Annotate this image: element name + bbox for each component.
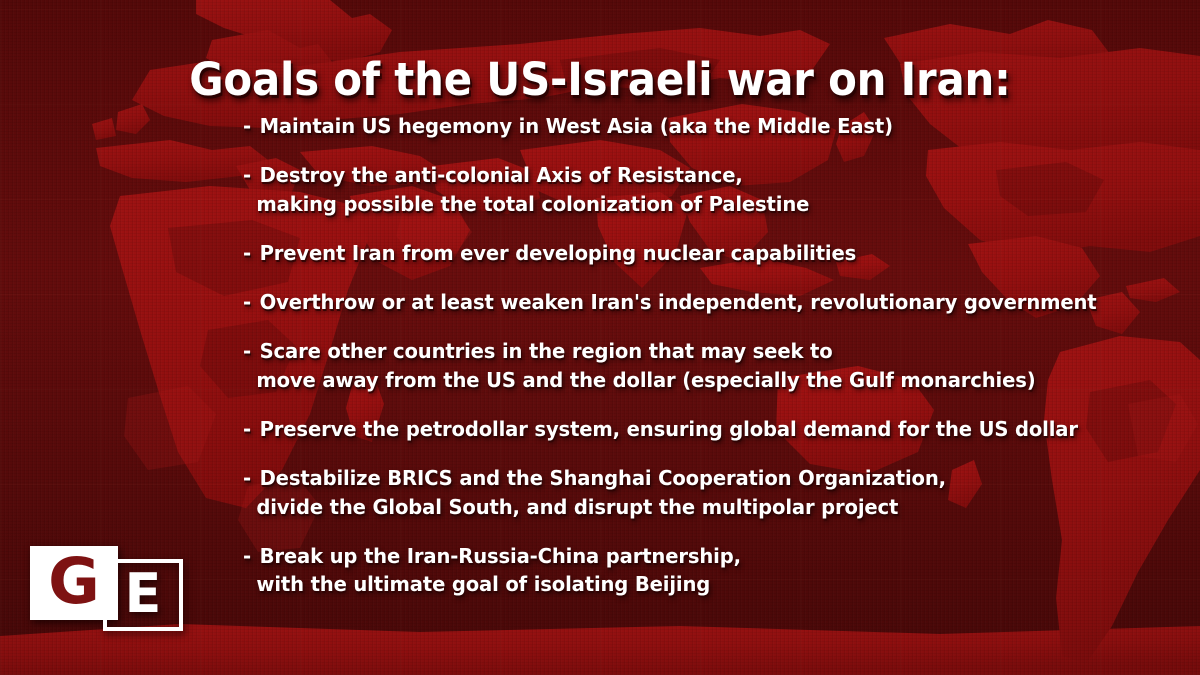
- goal-item: - Destroy the anti-colonial Axis of Resi…: [243, 161, 1131, 218]
- goal-line-continuation: divide the Global South, and disrupt the…: [243, 493, 1131, 521]
- goal-item: - Break up the Iran-Russia-China partner…: [243, 542, 1131, 599]
- goal-text: making possible the total colonization o…: [256, 192, 809, 216]
- goal-item: - Maintain US hegemony in West Asia (aka…: [243, 112, 1131, 140]
- goal-text: Break up the Iran-Russia-China partnersh…: [260, 544, 741, 568]
- goal-line-continuation: move away from the US and the dollar (es…: [243, 366, 1131, 394]
- bullet-dash: -: [243, 112, 251, 140]
- goal-text: divide the Global South, and disrupt the…: [256, 495, 898, 519]
- goal-line-primary: - Scare other countries in the region th…: [243, 337, 1131, 365]
- grayzone-logo: G E: [30, 546, 186, 632]
- bullet-dash: -: [243, 288, 251, 316]
- goal-item: - Scare other countries in the region th…: [243, 337, 1131, 394]
- goal-line-primary: - Overthrow or at least weaken Iran's in…: [243, 288, 1131, 316]
- goal-line-primary: - Break up the Iran-Russia-China partner…: [243, 542, 1131, 570]
- bullet-dash: -: [243, 415, 251, 443]
- goal-text: Destabilize BRICS and the Shanghai Coope…: [260, 466, 946, 490]
- goal-item: - Preserve the petrodollar system, ensur…: [243, 415, 1131, 443]
- goal-text: Scare other countries in the region that…: [260, 339, 833, 363]
- goal-item: - Prevent Iran from ever developing nucl…: [243, 239, 1131, 267]
- bullet-dash: -: [243, 542, 251, 570]
- goal-text: with the ultimate goal of isolating Beij…: [256, 572, 710, 596]
- goals-list: - Maintain US hegemony in West Asia (aka…: [243, 112, 1173, 619]
- goal-item: - Overthrow or at least weaken Iran's in…: [243, 288, 1131, 316]
- goal-text: Destroy the anti-colonial Axis of Resist…: [260, 163, 743, 187]
- goal-line-continuation: with the ultimate goal of isolating Beij…: [243, 570, 1131, 598]
- goal-text: Preserve the petrodollar system, ensurin…: [260, 417, 1078, 441]
- page-title: Goals of the US-Israeli war on Iran:: [42, 56, 1158, 103]
- logo-e-box: E: [103, 559, 183, 631]
- bullet-dash: -: [243, 464, 251, 492]
- goal-line-primary: - Prevent Iran from ever developing nucl…: [243, 239, 1131, 267]
- infographic-canvas: Goals of the US-Israeli war on Iran: - M…: [0, 0, 1200, 675]
- goal-item: - Destabilize BRICS and the Shanghai Coo…: [243, 464, 1131, 521]
- goal-text: move away from the US and the dollar (es…: [256, 368, 1035, 392]
- goal-line-primary: - Maintain US hegemony in West Asia (aka…: [243, 112, 1131, 140]
- goal-text: Prevent Iran from ever developing nuclea…: [260, 241, 857, 265]
- goal-line-primary: - Destabilize BRICS and the Shanghai Coo…: [243, 464, 1131, 492]
- bullet-dash: -: [243, 239, 251, 267]
- goal-text: Maintain US hegemony in West Asia (aka t…: [260, 114, 893, 138]
- bullet-dash: -: [243, 161, 251, 189]
- goal-line-continuation: making possible the total colonization o…: [243, 190, 1131, 218]
- content-layer: Goals of the US-Israeli war on Iran: - M…: [0, 0, 1200, 675]
- goal-line-primary: - Destroy the anti-colonial Axis of Resi…: [243, 161, 1131, 189]
- goal-text: Overthrow or at least weaken Iran's inde…: [260, 290, 1097, 314]
- goal-line-primary: - Preserve the petrodollar system, ensur…: [243, 415, 1131, 443]
- logo-letter-e: E: [107, 563, 179, 627]
- bullet-dash: -: [243, 337, 251, 365]
